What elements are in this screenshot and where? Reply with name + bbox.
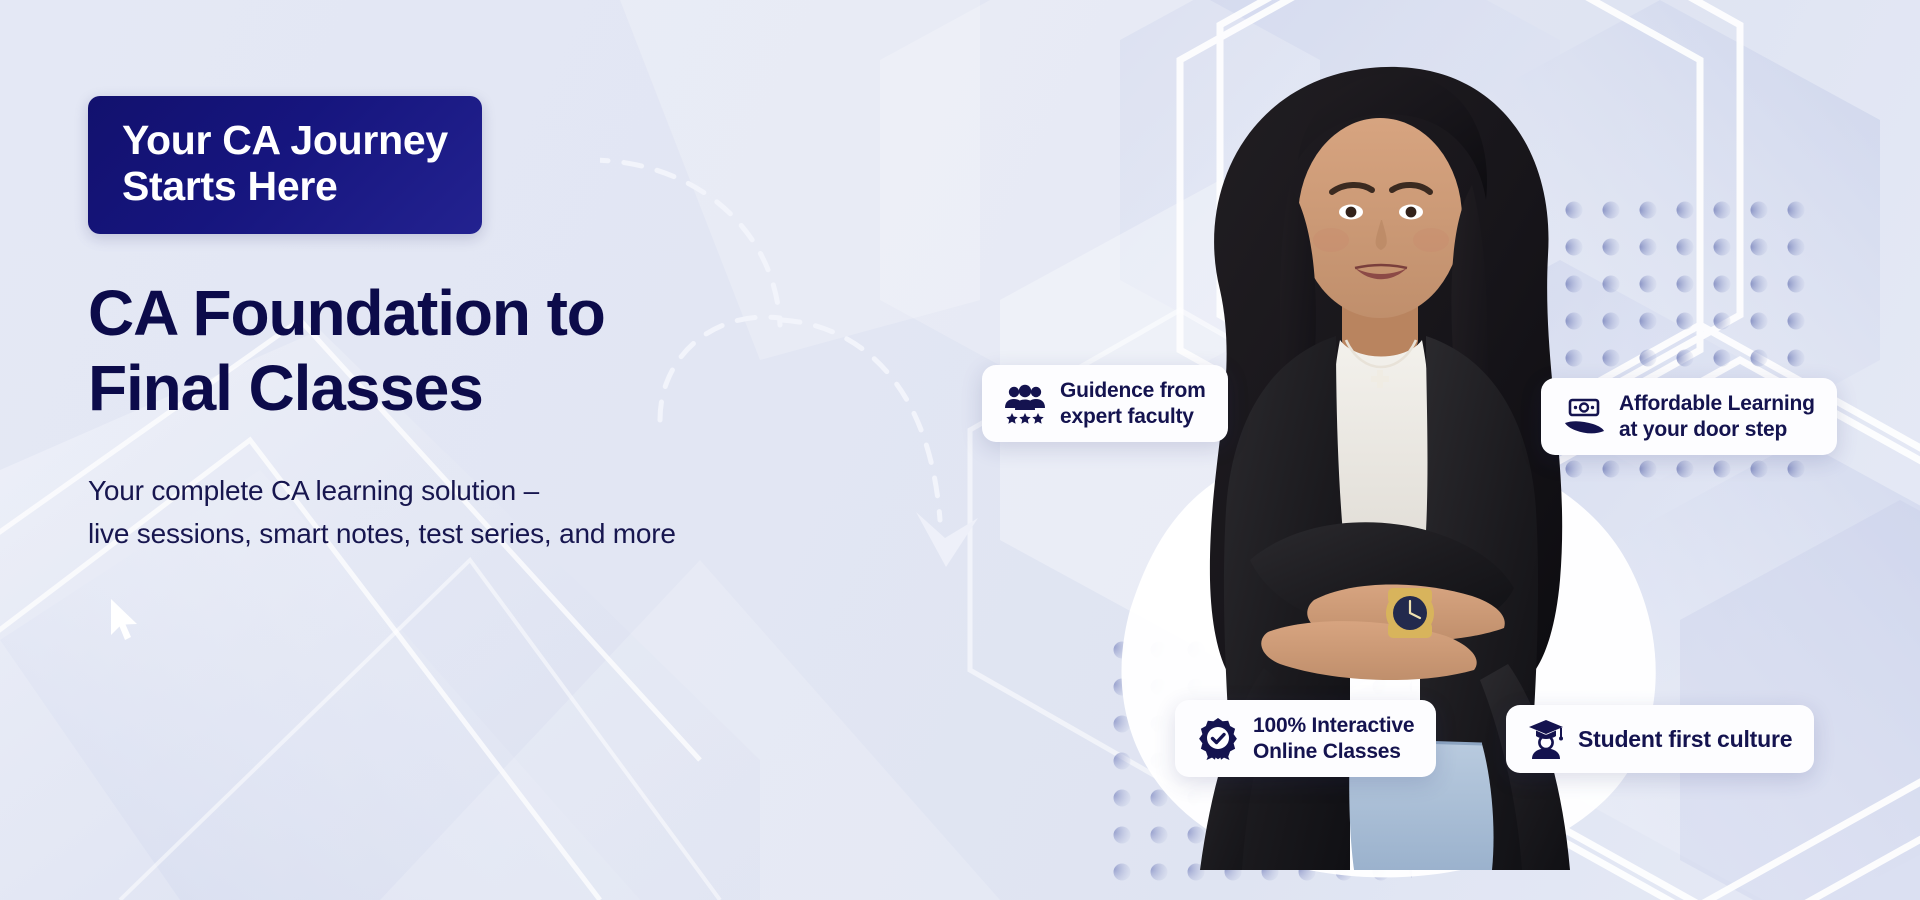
feature-badge-student[interactable]: Student first culture bbox=[1506, 705, 1814, 773]
hero-banner: Your CA Journey Starts Here CA Foundatio… bbox=[0, 0, 1920, 900]
verified-ribbon-icon bbox=[1197, 717, 1239, 761]
feature-badge-guidance[interactable]: Guidence from expert faculty bbox=[982, 365, 1228, 442]
hero-subtitle: Your complete CA learning solution – liv… bbox=[88, 469, 848, 556]
hero-content: Your CA Journey Starts Here CA Foundatio… bbox=[88, 96, 848, 556]
feature-badge-label: Guidence from expert faculty bbox=[1060, 378, 1206, 429]
mouse-pointer-icon bbox=[108, 597, 142, 643]
feature-badge-interactive[interactable]: 100% Interactive Online Classes bbox=[1175, 700, 1436, 777]
feature-badge-affordable[interactable]: Affordable Learning at your door step bbox=[1541, 378, 1837, 455]
page-title: CA Foundation to Final Classes bbox=[88, 276, 848, 427]
eyebrow-badge: Your CA Journey Starts Here bbox=[88, 96, 482, 234]
feature-badge-label: 100% Interactive Online Classes bbox=[1253, 713, 1414, 764]
feature-badge-label: Affordable Learning at your door step bbox=[1619, 391, 1815, 442]
group-people-stars-icon bbox=[1004, 384, 1046, 424]
money-on-hand-icon bbox=[1563, 398, 1605, 436]
feature-badge-label: Student first culture bbox=[1578, 725, 1792, 753]
graduate-student-icon bbox=[1528, 718, 1564, 760]
